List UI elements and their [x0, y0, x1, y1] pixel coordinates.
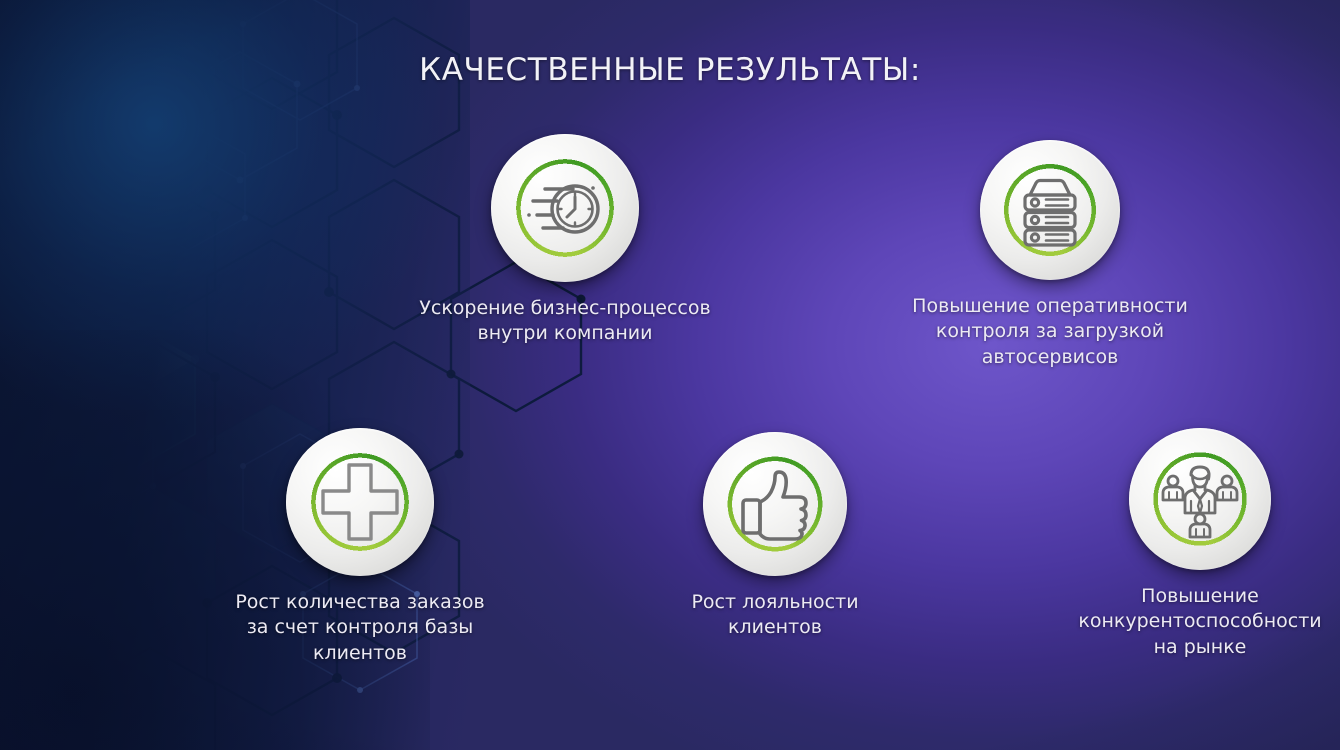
result-caption-growth: Рост количества заказов за счет контроля…	[210, 590, 510, 666]
result-item-server: Повышение оперативности контроля за загр…	[870, 140, 1230, 370]
plus-icon	[286, 428, 434, 576]
server-stack-icon	[980, 140, 1120, 280]
result-caption-competitiveness: Повышение конкурентоспособности на рынке	[1060, 584, 1340, 660]
result-caption-speed: Ускорение бизнес-процессов внутри компан…	[400, 296, 730, 347]
badge-circle-speed[interactable]	[491, 134, 639, 282]
result-caption-server: Повышение оперативности контроля за загр…	[870, 294, 1230, 370]
badge-circle-loyalty[interactable]	[703, 432, 847, 576]
page-title: КАЧЕСТВЕННЫЕ РЕЗУЛЬТАТЫ:	[0, 52, 1340, 88]
result-item-growth: Рост количества заказов за счет контроля…	[210, 428, 510, 666]
badge-circle-server[interactable]	[980, 140, 1120, 280]
badge-circle-growth[interactable]	[286, 428, 434, 576]
result-item-speed: Ускорение бизнес-процессов внутри компан…	[400, 134, 730, 347]
slide-canvas: КАЧЕСТВЕННЫЕ РЕЗУЛЬТАТЫ: Ускор	[0, 0, 1340, 750]
result-item-competitiveness: Повышение конкурентоспособности на рынке	[1060, 428, 1340, 660]
result-caption-loyalty: Рост лояльности клиентов	[640, 590, 910, 641]
fast-clock-icon	[491, 134, 639, 282]
badge-circle-competitiveness[interactable]	[1129, 428, 1271, 570]
team-group-icon	[1129, 428, 1271, 570]
thumbs-up-icon	[703, 432, 847, 576]
result-item-loyalty: Рост лояльности клиентов	[640, 432, 910, 641]
